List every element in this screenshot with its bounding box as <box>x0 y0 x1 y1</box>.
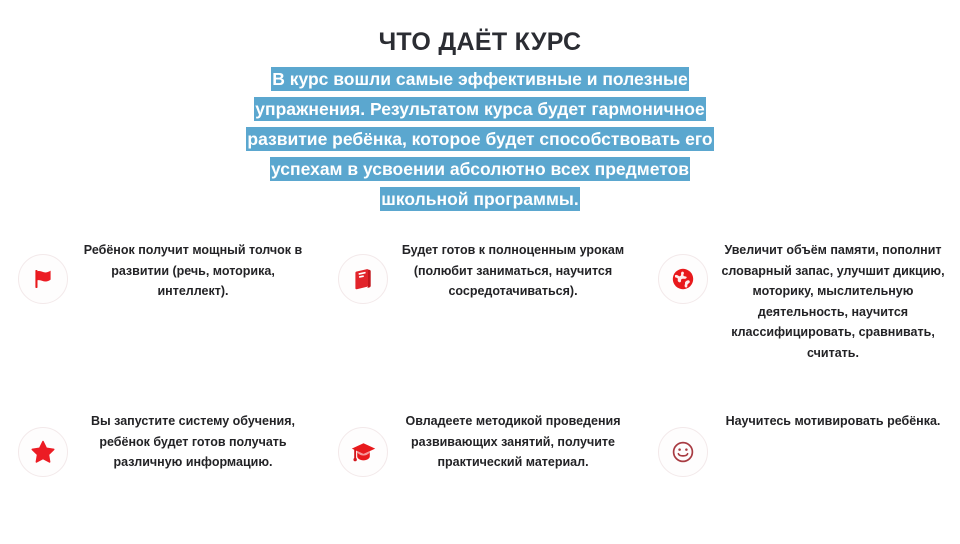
intro-paragraph-text: В курс вошли самые эффективные и полезны… <box>170 64 790 214</box>
intro-line-4: успехам в усвоении абсолютно всех предме… <box>271 158 689 180</box>
red-smiley-icon <box>658 427 708 477</box>
intro-line-1: В курс вошли самые эффективные и полезны… <box>272 68 688 90</box>
red-star-icon <box>18 427 68 477</box>
page-title: ЧТО ДАЁТ КУРС <box>0 27 960 57</box>
feature-grid: Ребёнок получит мощный толчок в развитии… <box>0 240 960 477</box>
red-graduation-cap-icon <box>338 427 388 477</box>
feature-label: Увеличит объём памяти, пополнит словарны… <box>716 240 950 363</box>
red-globe-icon <box>658 254 708 304</box>
feature-item-globe: Увеличит объём памяти, пополнит словарны… <box>640 240 960 363</box>
feature-label: Ребёнок получит мощный толчок в развитии… <box>76 240 310 302</box>
feature-item-smiley: Научитесь мотивировать ребёнка. <box>640 411 960 477</box>
feature-label: Будет готов к полноценным урокам (полюби… <box>396 240 630 302</box>
landing-section: ЧТО ДАЁТ КУРС В курс вошли самые эффекти… <box>0 0 960 544</box>
feature-item-flag: Ребёнок получит мощный толчок в развитии… <box>0 240 320 363</box>
feature-label: Научитесь мотивировать ребёнка. <box>716 411 950 432</box>
feature-label: Овладеете методикой проведения развивающ… <box>396 411 630 473</box>
red-book-icon <box>338 254 388 304</box>
feature-item-star: Вы запустите систему обучения, ребёнок б… <box>0 411 320 477</box>
intro-line-2: упражнения. Результатом курса будет гарм… <box>255 98 704 120</box>
red-flag-icon <box>18 254 68 304</box>
intro-line-3: развитие ребёнка, которое будет способст… <box>247 128 712 150</box>
feature-item-graduation-cap: Овладеете методикой проведения развивающ… <box>320 411 640 477</box>
intro-paragraph: В курс вошли самые эффективные и полезны… <box>170 64 790 214</box>
intro-line-5: школьной программы. <box>381 188 578 210</box>
feature-item-book: Будет готов к полноценным урокам (полюби… <box>320 240 640 363</box>
feature-label: Вы запустите систему обучения, ребёнок б… <box>76 411 310 473</box>
